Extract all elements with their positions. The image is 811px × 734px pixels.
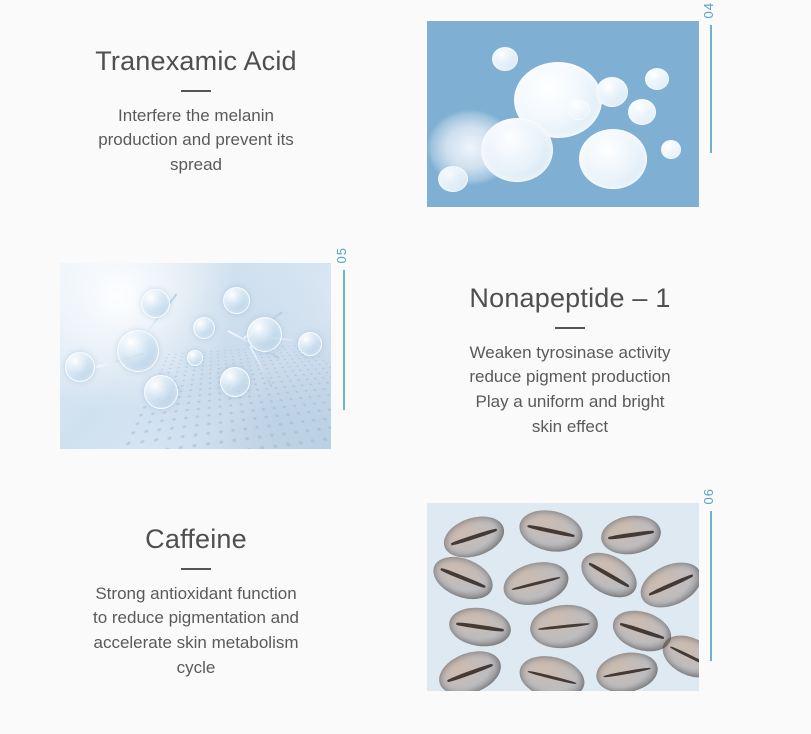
- section-04-number: 04: [702, 2, 715, 18]
- section-06-description-line-1: Strong antioxidant function: [95, 584, 296, 603]
- section-05-title-divider: [555, 327, 585, 329]
- section-05-image-molecular-structure: [60, 263, 331, 449]
- section-04-description-line-1: Interfere the melanin: [118, 106, 274, 125]
- roasted-coffee-beans-icon: [427, 503, 699, 691]
- section-05-description: Weaken tyrosinase activity reduce pigmen…: [424, 341, 716, 440]
- section-05-description-line-3: Play a uniform and bright: [476, 392, 665, 411]
- section-05-title: Nonapeptide – 1: [424, 284, 716, 314]
- section-06-description-line-4: cycle: [177, 658, 216, 677]
- section-04-title-divider: [181, 90, 211, 92]
- section-06-text-block: Caffeine Strong antioxidant function to …: [50, 525, 342, 680]
- section-04-marker-line: [710, 25, 712, 153]
- section-06-description-line-3: accelerate skin metabolism: [93, 633, 298, 652]
- section-06-marker: 06: [702, 488, 720, 661]
- section-06-title: Caffeine: [50, 525, 342, 555]
- section-04-text-block: Tranexamic Acid Interfere the melanin pr…: [50, 47, 342, 178]
- section-04-marker: 04: [702, 2, 720, 153]
- section-05-description-line-4: skin effect: [532, 417, 608, 436]
- section-05-number: 05: [335, 247, 348, 263]
- section-05-marker-line: [343, 270, 345, 410]
- section-04-description-line-3: spread: [170, 155, 222, 174]
- section-04-title: Tranexamic Acid: [50, 47, 342, 77]
- section-05-text-block: Nonapeptide – 1 Weaken tyrosinase activi…: [424, 284, 716, 439]
- section-06-description: Strong antioxidant function to reduce pi…: [50, 582, 342, 681]
- section-06-marker-line: [710, 511, 712, 661]
- ingredients-infographic-page: 04 Tranexamic Acid Interfere the melanin…: [0, 0, 811, 734]
- section-05-marker: 05: [335, 247, 353, 410]
- section-05-description-line-1: Weaken tyrosinase activity: [470, 343, 671, 362]
- section-04-description-line-2: production and prevent its: [98, 130, 294, 149]
- section-06-image-coffee-beans: [427, 503, 699, 691]
- section-06-number: 06: [702, 488, 715, 504]
- section-04-description: Interfere the melanin production and pre…: [50, 104, 342, 178]
- section-04-image-blue-bubbles: [427, 21, 699, 207]
- section-06-description-line-2: to reduce pigmentation and: [93, 608, 299, 627]
- molecular-structure-blue-icon: [60, 263, 331, 449]
- section-06-title-divider: [181, 568, 211, 570]
- section-05-description-line-2: reduce pigment production: [469, 367, 670, 386]
- blue-bubbles-foam-macro-icon: [427, 21, 699, 207]
